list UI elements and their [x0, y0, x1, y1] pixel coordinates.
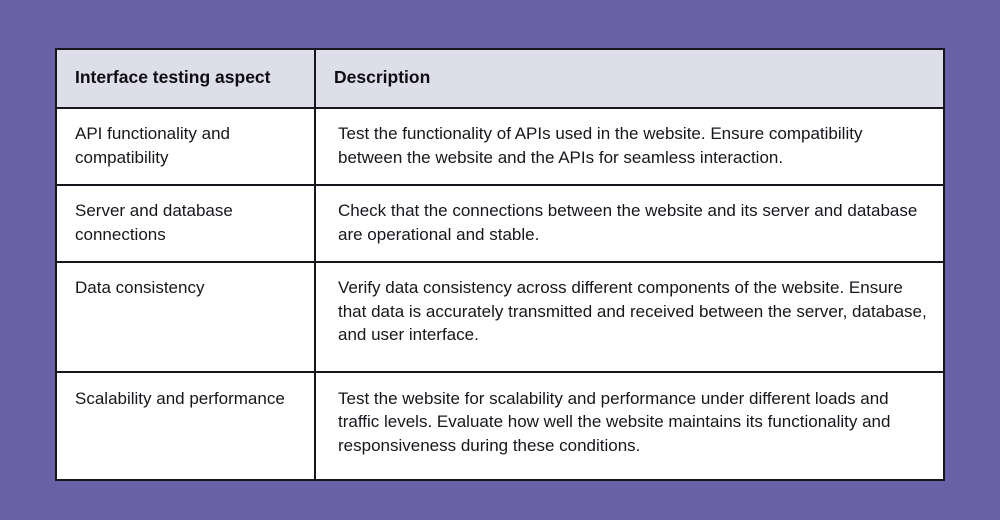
table-row: API functionality and compatibility Test…	[56, 108, 944, 185]
table-row: Data consistency Verify data consistency…	[56, 262, 944, 372]
interface-testing-table: Interface testing aspect Description API…	[55, 48, 945, 481]
table-row: Server and database connections Check th…	[56, 185, 944, 262]
interface-testing-table-container: Interface testing aspect Description API…	[55, 48, 943, 481]
cell-description: Check that the connections between the w…	[315, 185, 944, 262]
cell-description: Verify data consistency across different…	[315, 262, 944, 372]
table-row: Scalability and performance Test the web…	[56, 372, 944, 481]
table-header-row: Interface testing aspect Description	[56, 49, 944, 108]
column-header-aspect: Interface testing aspect	[56, 49, 315, 108]
table-header: Interface testing aspect Description	[56, 49, 944, 108]
cell-aspect: Data consistency	[56, 262, 315, 372]
cell-aspect: Scalability and performance	[56, 372, 315, 481]
cell-aspect: API functionality and compatibility	[56, 108, 315, 185]
column-header-description: Description	[315, 49, 944, 108]
table-body: API functionality and compatibility Test…	[56, 108, 944, 480]
cell-aspect: Server and database connections	[56, 185, 315, 262]
cell-description: Test the functionality of APIs used in t…	[315, 108, 944, 185]
page-canvas: Interface testing aspect Description API…	[0, 0, 1000, 520]
cell-description: Test the website for scalability and per…	[315, 372, 944, 481]
